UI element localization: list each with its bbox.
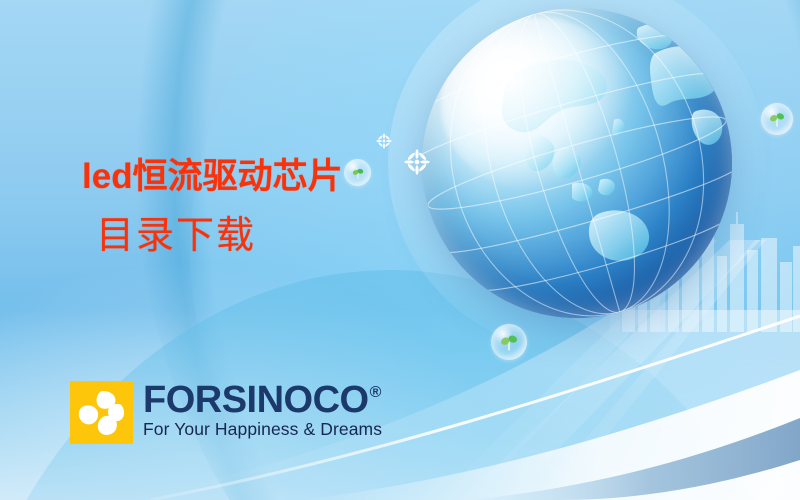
brand-tagline: For Your Happiness & Dreams bbox=[143, 419, 382, 440]
brand-text-block: FORSINOCO ® For Your Happiness & Dreams bbox=[143, 381, 382, 440]
globe-rim-light bbox=[422, 8, 732, 318]
forsinoco-logo-mark-icon bbox=[70, 381, 133, 444]
brand-logo-lockup: FORSINOCO ® For Your Happiness & Dreams bbox=[70, 381, 382, 444]
catalog-cover: led恒流驱动芯片 目录下载 FORSINOCO bbox=[0, 0, 800, 500]
brand-name: FORSINOCO bbox=[143, 382, 369, 418]
earth-globe bbox=[422, 8, 732, 318]
headline-line-1: led恒流驱动芯片 bbox=[82, 158, 412, 196]
brand-name-row: FORSINOCO ® bbox=[143, 382, 382, 418]
bubble-with-seedling-icon bbox=[761, 103, 793, 135]
registered-trademark-icon: ® bbox=[370, 385, 382, 401]
globe-sphere bbox=[422, 8, 732, 318]
cover-headline: led恒流驱动芯片 目录下载 bbox=[82, 158, 412, 257]
headline-line-2: 目录下载 bbox=[96, 216, 412, 257]
